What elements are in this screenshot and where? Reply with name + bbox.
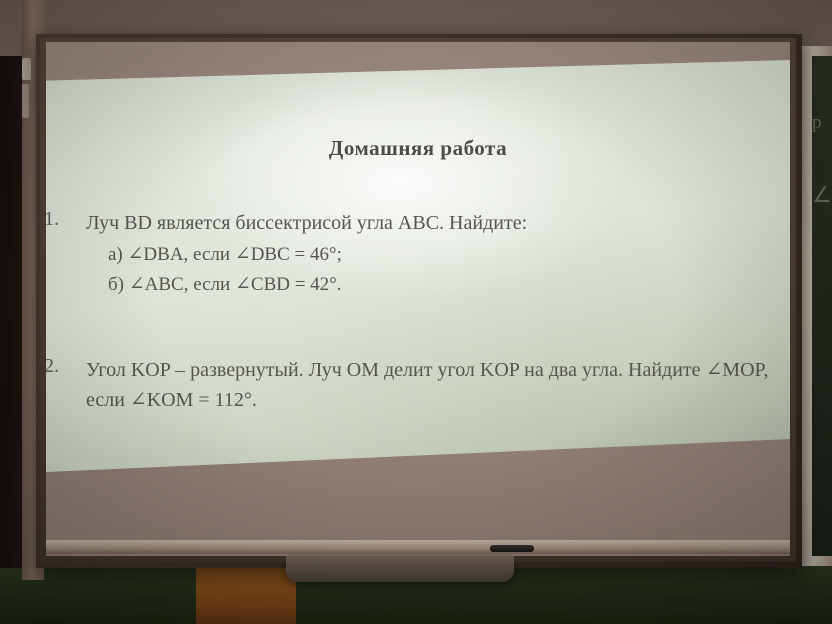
wood-panel — [196, 566, 296, 624]
task-1-number: 1. — [46, 208, 86, 231]
whiteboard-bottom-rail — [46, 540, 790, 554]
classroom-scene: р ∠ Домашняя работа 1. Луч BD является б… — [0, 0, 832, 624]
wall-fixture-upper — [22, 58, 31, 80]
task-2-number: 2. — [46, 355, 86, 378]
task-item-2: 2. Угол KOP – развернутый. Луч OM делит … — [46, 355, 790, 416]
task-item-1: 1. Луч BD является биссектрисой угла ABC… — [46, 208, 790, 300]
task-1-subitems: а) ∠DBA, если ∠DBC = 46°; б) ∠ABC, если … — [86, 240, 527, 300]
task-1-statement: Луч BD является биссектрисой угла ABC. Н… — [86, 208, 527, 238]
task-1-subitem-a: а) ∠DBA, если ∠DBC = 46°; — [86, 240, 527, 270]
marker-tray — [286, 556, 514, 582]
wall-fixture-lower — [22, 84, 29, 118]
whiteboard-marker — [490, 545, 534, 552]
projected-slide-area: Домашняя работа 1. Луч BD является биссе… — [46, 60, 790, 472]
slide-title: Домашняя работа — [46, 136, 790, 161]
whiteboard-surface: Домашняя работа 1. Луч BD является биссе… — [46, 42, 790, 556]
task-1-body: Луч BD является биссектрисой угла ABC. Н… — [86, 208, 527, 300]
right-chalkboard-face — [812, 56, 832, 556]
slide-content: Домашняя работа 1. Луч BD является биссе… — [46, 60, 790, 472]
task-2-statement: Угол KOP – развернутый. Луч OM делит уго… — [86, 355, 790, 416]
task-1-subitem-b: б) ∠ABC, если ∠CBD = 42°. — [86, 270, 527, 300]
